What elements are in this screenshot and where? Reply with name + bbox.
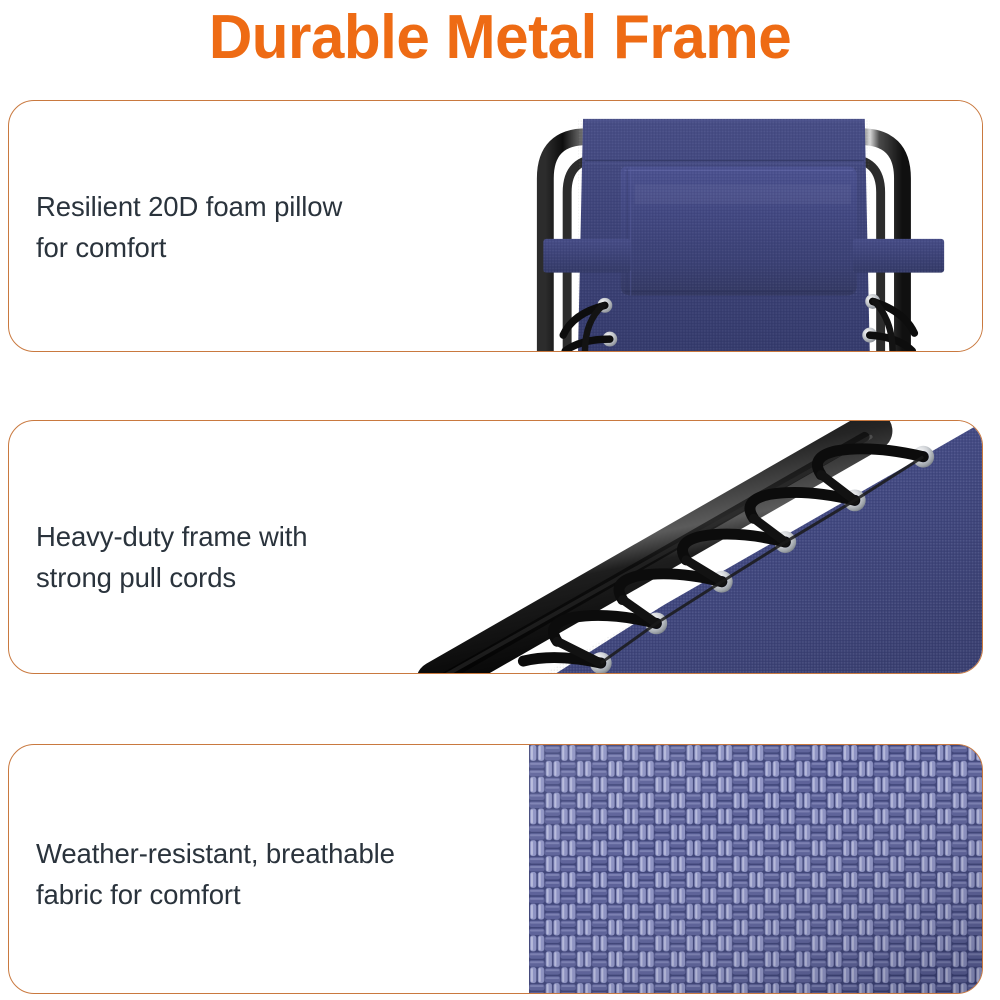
feature-text-frame-cords: Heavy-duty frame with strong pull cords — [36, 516, 307, 598]
feature-image-pillow — [439, 101, 982, 351]
pillow-photo-illustration — [439, 101, 982, 351]
feature-text-pillow: Resilient 20D foam pillow for comfort — [36, 186, 342, 268]
product-feature-infographic: Durable Metal Frame — [0, 0, 1000, 1000]
feature-card-frame-cords: Heavy-duty frame with strong pull cords — [8, 420, 983, 674]
frame-cord-photo-illustration — [409, 421, 982, 673]
feature-text-fabric: Weather-resistant, breathable fabric for… — [36, 833, 395, 915]
feature-card-pillow: Resilient 20D foam pillow for comfort — [8, 100, 983, 352]
page-title: Durable Metal Frame — [15, 2, 985, 74]
feature-image-frame-cords — [409, 421, 982, 673]
feature-image-fabric — [529, 745, 982, 993]
basketweave-fabric-illustration — [529, 745, 982, 993]
feature-card-fabric: Weather-resistant, breathable fabric for… — [8, 744, 983, 994]
